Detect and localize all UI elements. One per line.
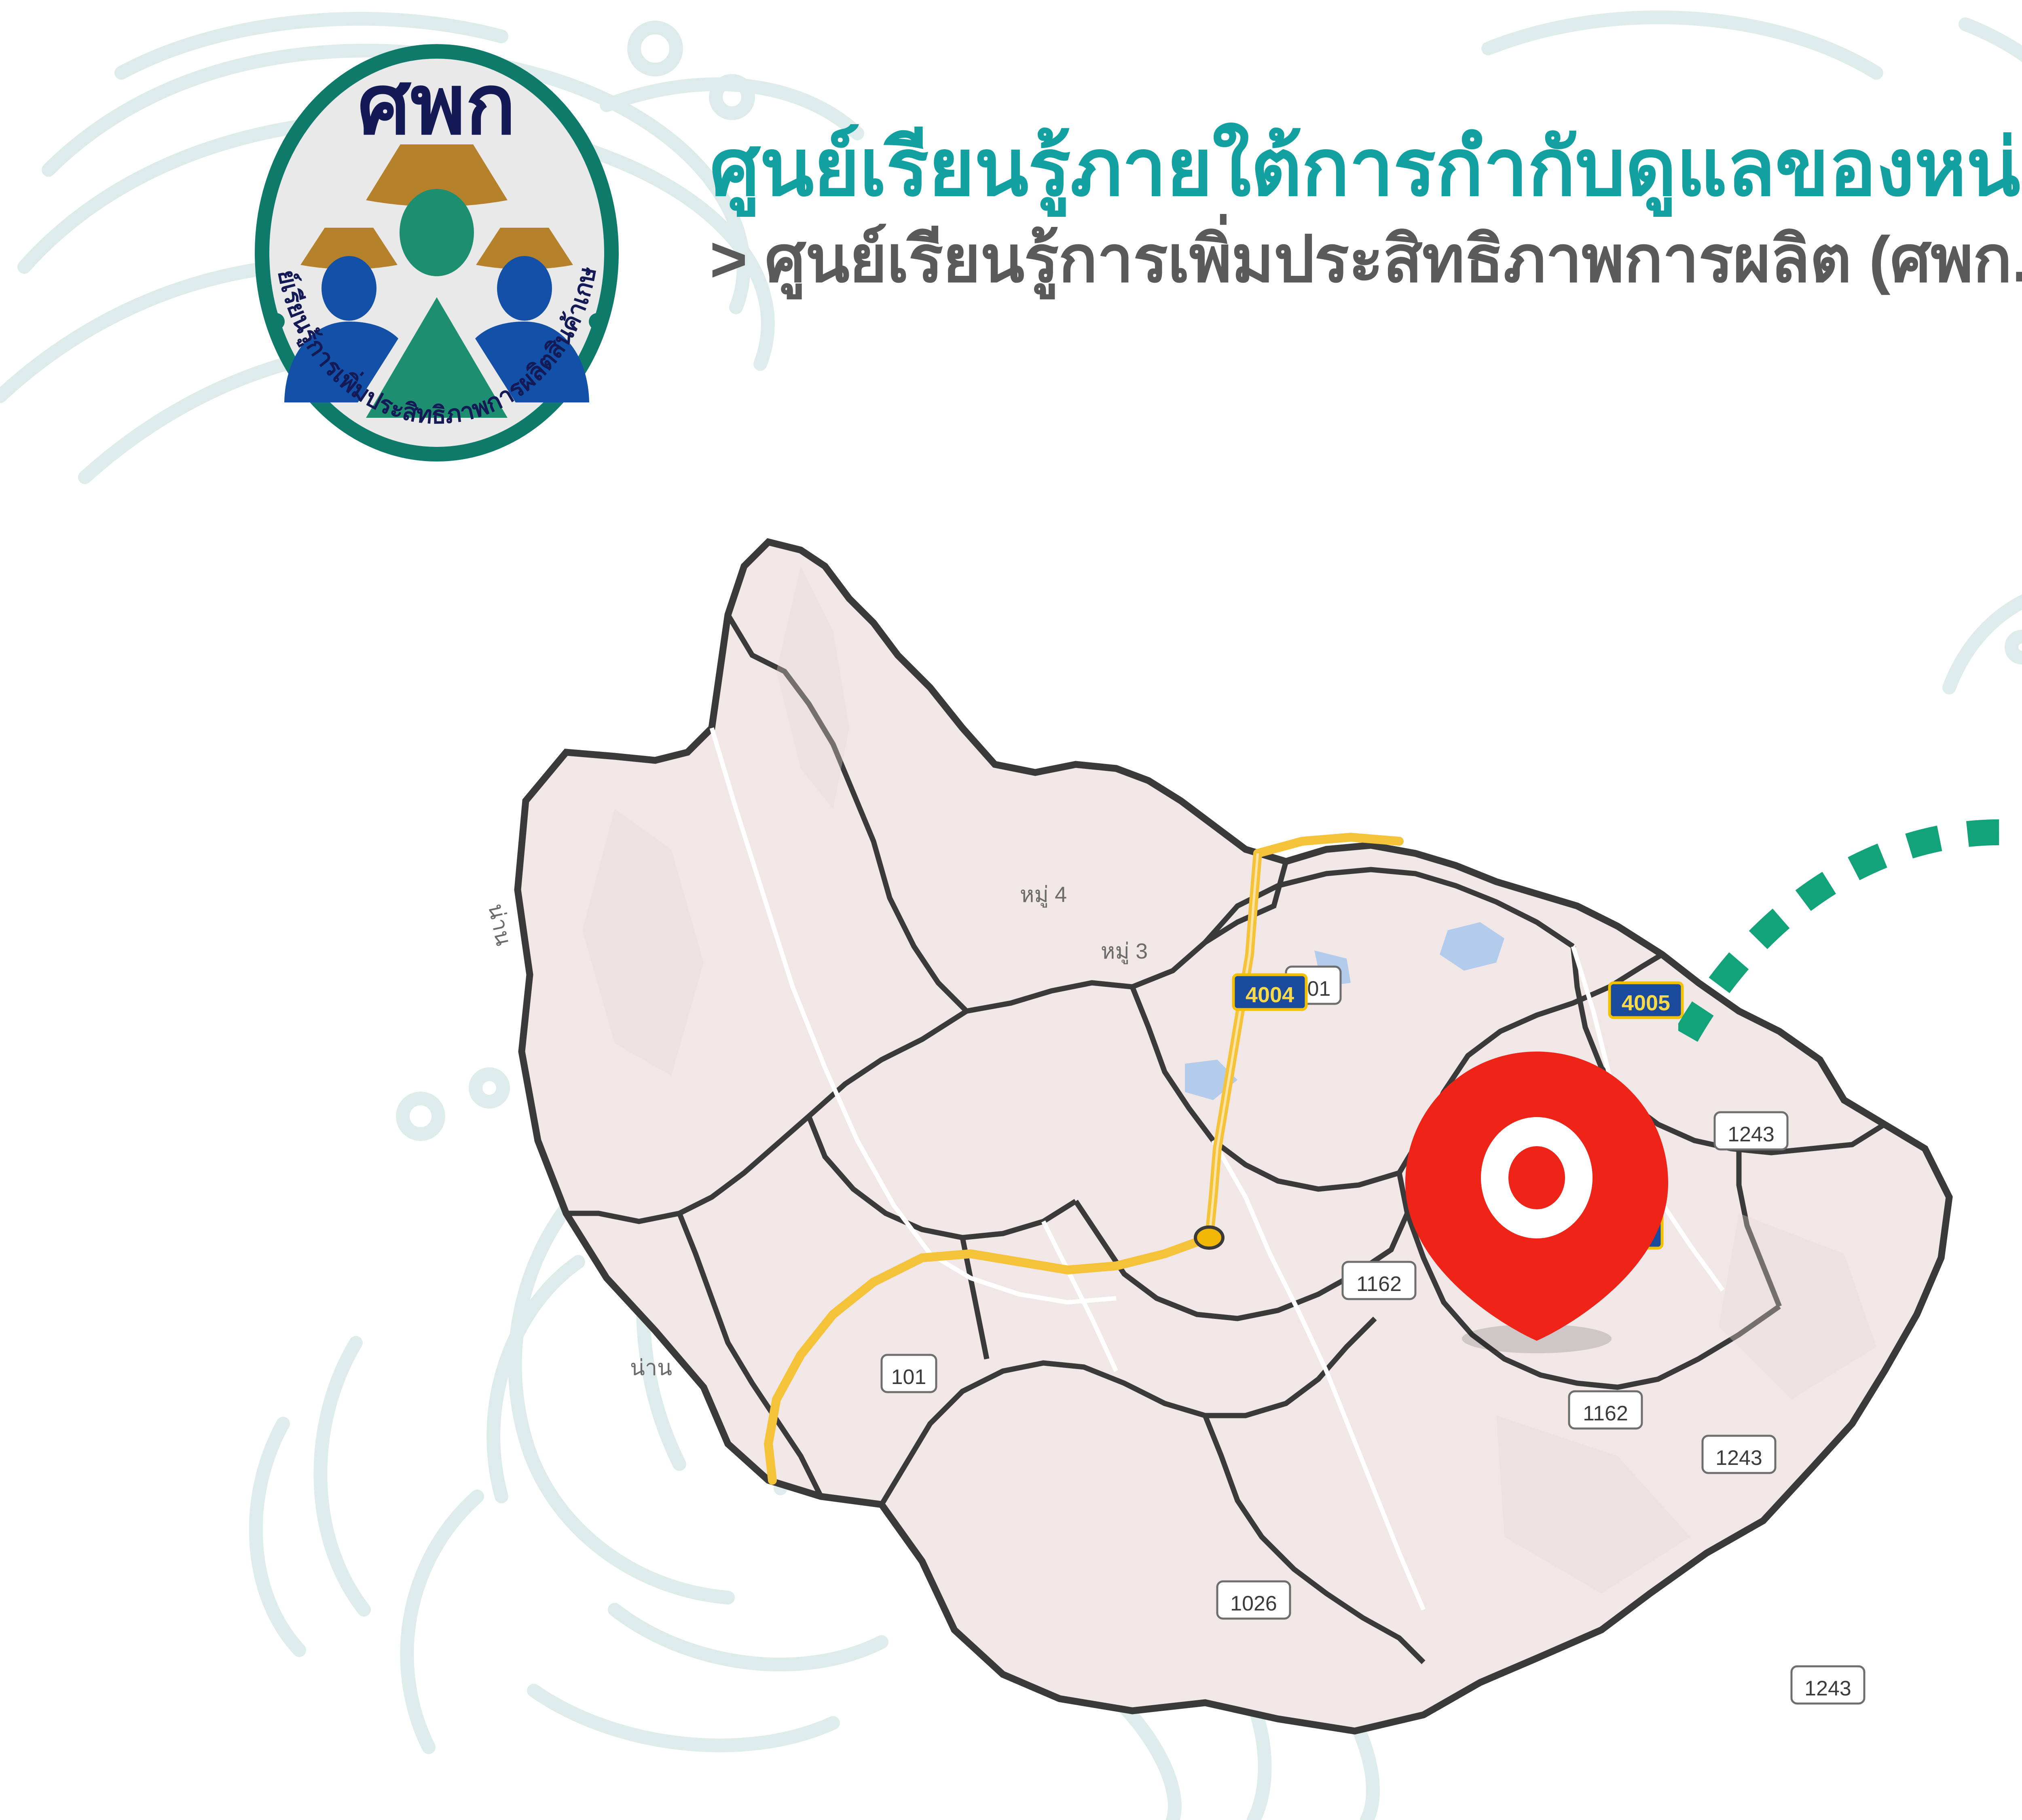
road-shield-1026: 1026: [1217, 1581, 1290, 1619]
highway-shield-4005: 4005: [1610, 983, 1682, 1018]
road-shield-1162a: 1162: [1343, 1262, 1415, 1299]
logo-acronym-text: ศพก: [357, 58, 516, 151]
road-shield-label: 1162: [1356, 1272, 1402, 1296]
map-village-label-1: หมู่ 4: [1020, 882, 1067, 908]
map-country-label: ประเทศไทย: [2018, 1385, 2022, 1499]
road-shield-1243a: 1243: [1715, 1112, 1787, 1149]
highway-shield-4004: 4004: [1233, 975, 1306, 1009]
road-shield-label: 101: [891, 1365, 926, 1389]
road-shield-label: 1162: [1583, 1402, 1628, 1425]
highway-shield-label: 4004: [1246, 983, 1294, 1007]
road-shield-label: 1243: [1804, 1677, 1851, 1700]
map-village-label-2: หมู่ 3: [1101, 939, 1148, 964]
district-map[interactable]: หมู่ 4 หมู่ 3 น่าน ประเทศไทย น่าน 101 10…: [445, 445, 2022, 1759]
page-subtitle: > ศูนย์เรียนรู้การเพิ่มประสิทธิภาพการผลิ…: [710, 222, 2022, 296]
page-title: ศูนย์เรียนรู้ภายใต้การกำกับดูแลของหน่วยง…: [710, 123, 2022, 212]
road-shield-1162b: 1162: [1569, 1391, 1642, 1428]
road-shield-1243c: 1243: [1791, 1666, 1864, 1704]
road-shield-101b: 101: [882, 1355, 936, 1392]
page-header: ศพก ศูนย์เรียนรู้การเพิ่มประสิทธิภาพการผ…: [0, 0, 2022, 477]
sphk-logo: ศพก ศูนย์เรียนรู้การเพิ่มประสิทธิภาพการผ…: [224, 38, 649, 467]
map-province-label-edge: น่าน: [483, 902, 516, 948]
road-shield-label: 1026: [1230, 1592, 1277, 1615]
road-shield-1243b: 1243: [1703, 1436, 1775, 1473]
road-shield-label: 1243: [1728, 1123, 1775, 1146]
map-province-label: น่าน: [630, 1356, 672, 1380]
road-shield-label: 1243: [1715, 1446, 1762, 1470]
highway-shield-label: 4005: [1622, 991, 1670, 1015]
